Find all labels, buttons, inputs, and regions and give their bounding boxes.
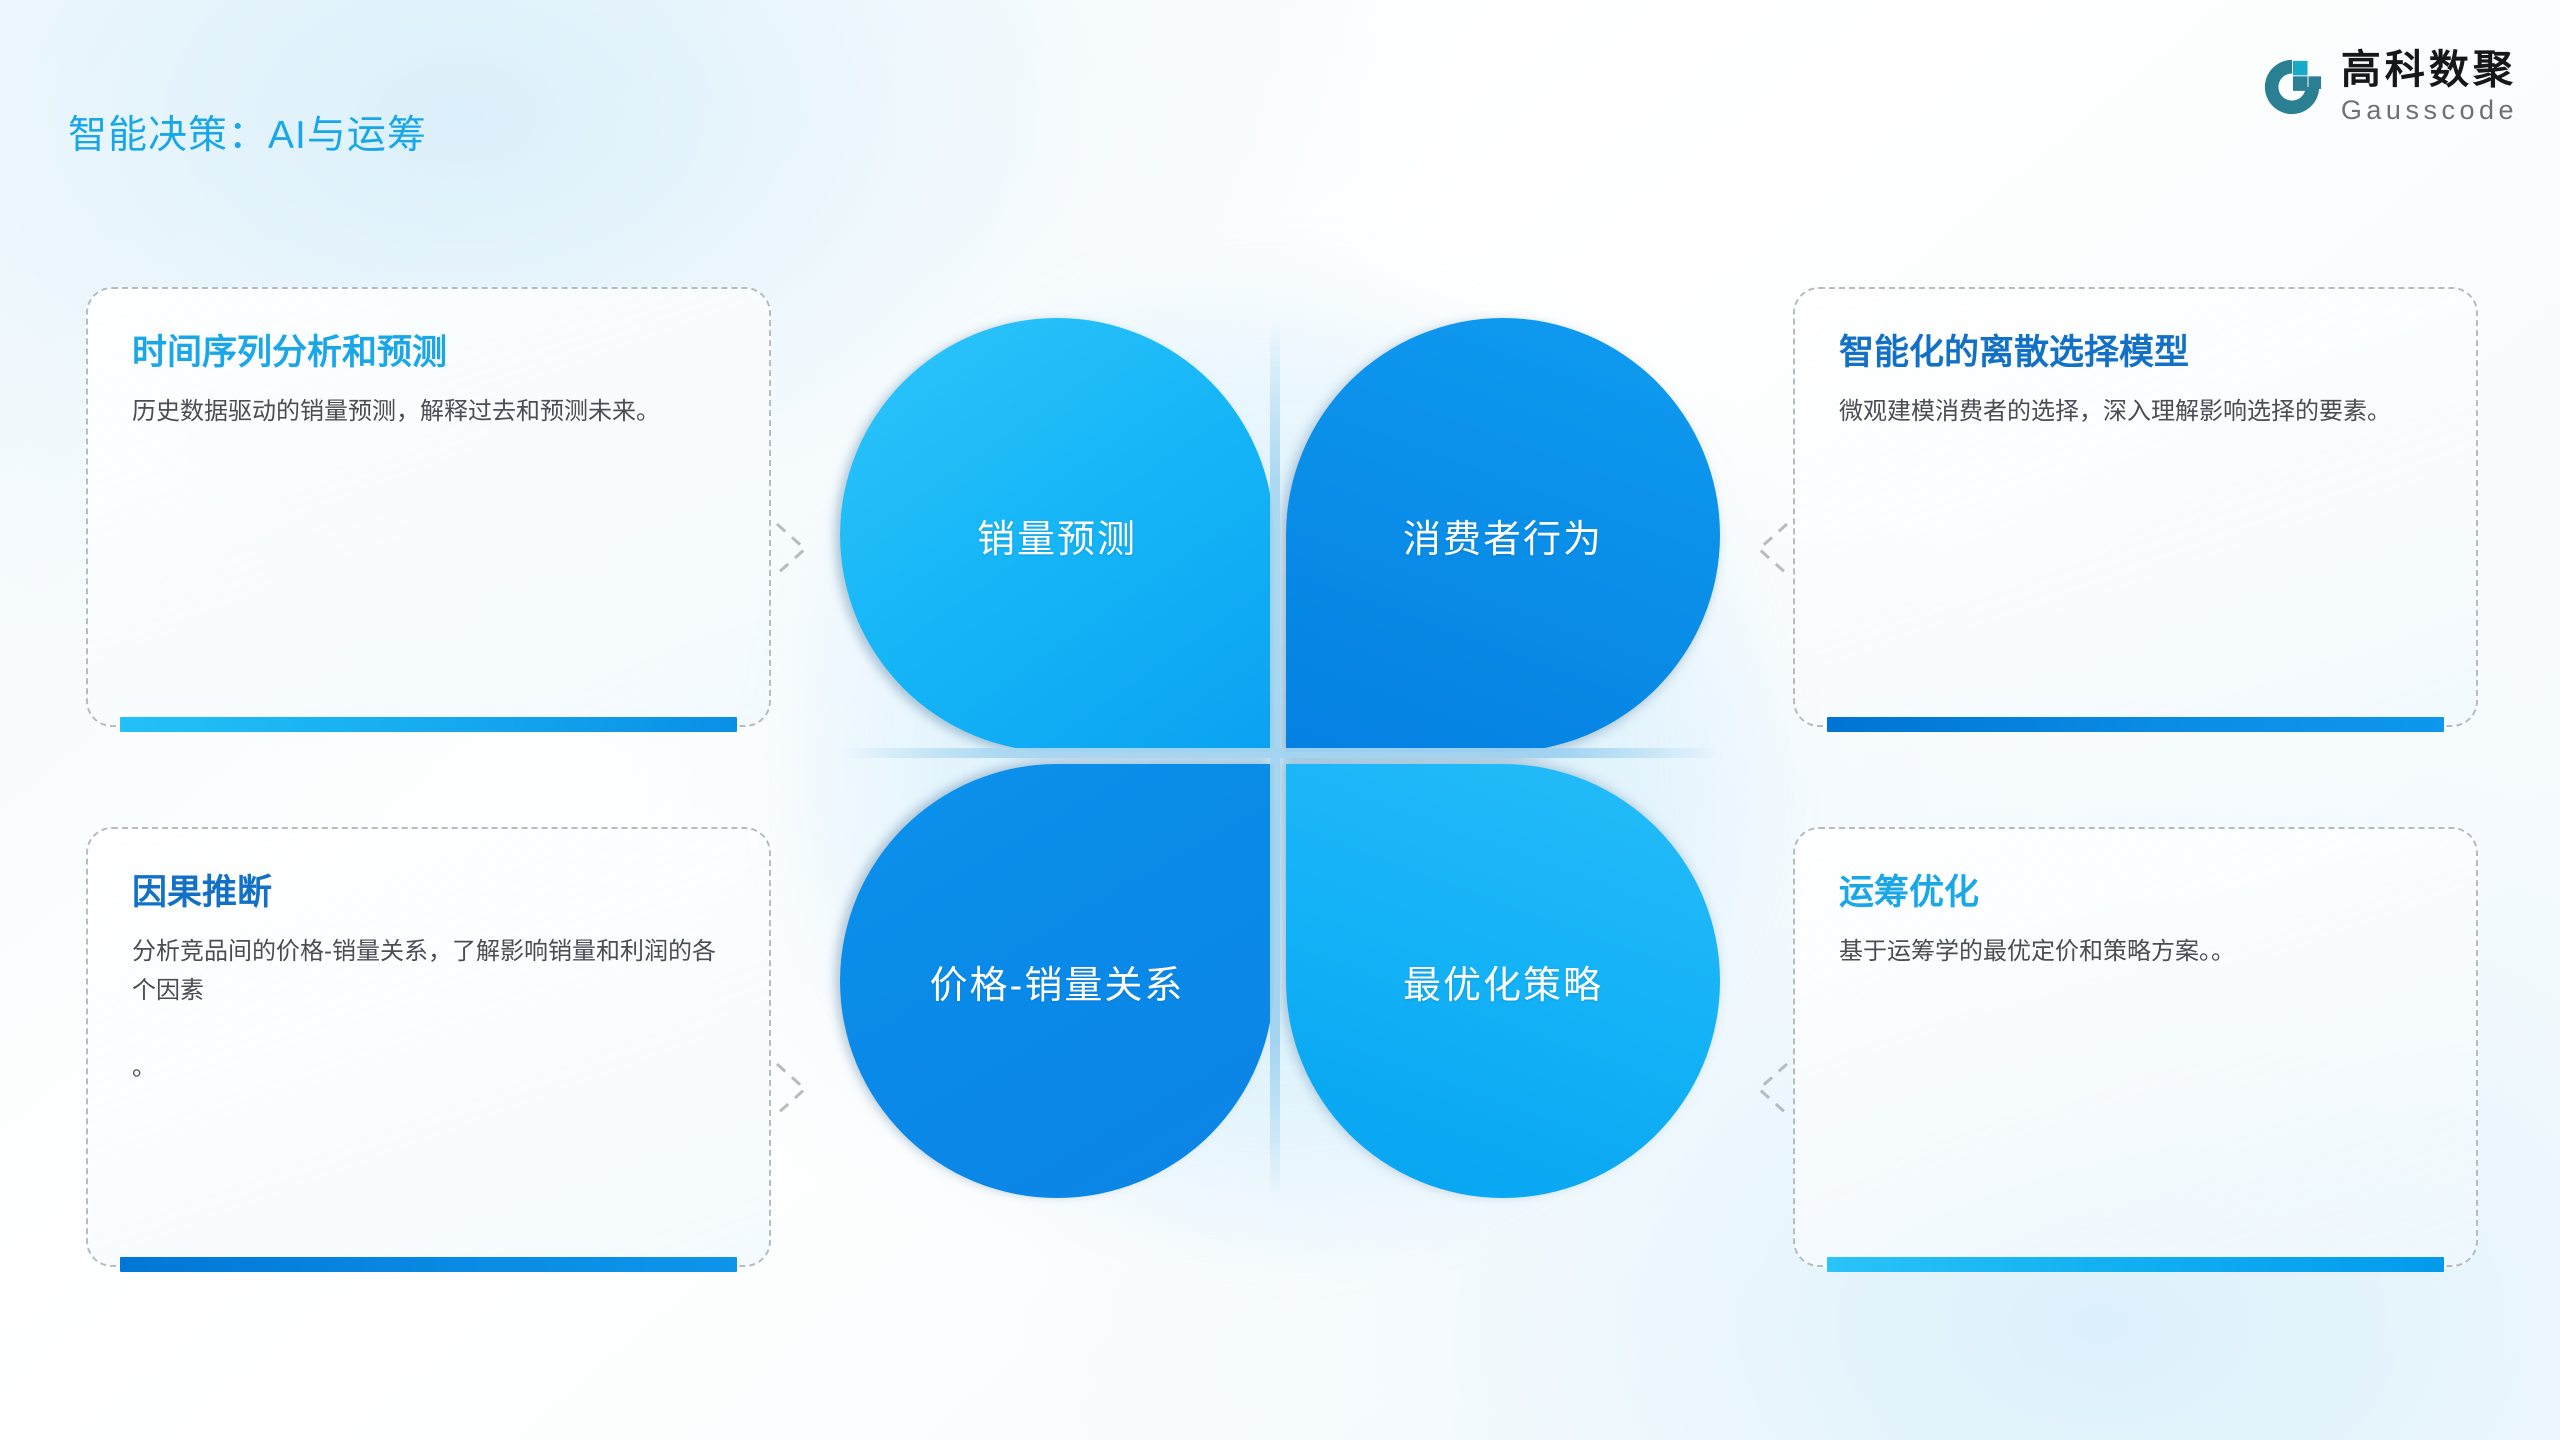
petal-label: 销量预测 (977, 508, 1137, 563)
petal-gap-vertical (1270, 318, 1280, 1198)
petal-label: 最优化策略 (1403, 954, 1603, 1009)
card-title: 运筹优化 (1839, 871, 2440, 915)
petal-optimal-strategy[interactable]: 最优化策略 (1286, 764, 1720, 1198)
feature-card-time-series[interactable]: 时间序列分析和预测 历史数据驱动的销量预测，解释过去和预测未来。 (86, 287, 771, 727)
petal-label: 消费者行为 (1403, 508, 1603, 563)
petal-consumer-behavior[interactable]: 消费者行为 (1286, 318, 1720, 752)
feature-card-discrete-choice[interactable]: 智能化的离散选择模型 微观建模消费者的选择，深入理解影响选择的要素。 (1793, 287, 2478, 727)
chevron-right-icon (771, 1056, 817, 1122)
card-body: 历史数据驱动的销量预测，解释过去和预测未来。 (132, 393, 733, 432)
four-petal-diagram: 销量预测 消费者行为 价格-销量关系 最优化策略 (840, 318, 1720, 1198)
petal-sales-forecast[interactable]: 销量预测 (840, 318, 1274, 752)
gausscode-g-mark-icon (2261, 56, 2323, 118)
logo-en-name: Gausscode (2341, 97, 2518, 124)
page-title: 智能决策：AI与运筹 (68, 104, 427, 160)
chevron-left-icon (1747, 1056, 1793, 1122)
card-body: 基于运筹学的最优定价和策略方案。。 (1839, 933, 2440, 972)
slide-canvas: 智能决策：AI与运筹 高科数聚 Gausscode 时间序列分析和预测 历史数据… (0, 0, 2560, 1440)
petal-price-volume-relation[interactable]: 价格-销量关系 (840, 764, 1274, 1198)
card-accent-bar (1827, 717, 2444, 732)
chevron-right-icon (771, 516, 817, 582)
feature-card-operations-research[interactable]: 运筹优化 基于运筹学的最优定价和策略方案。。 (1793, 827, 2478, 1267)
petal-gap-horizontal (840, 748, 1720, 758)
card-title: 时间序列分析和预测 (132, 331, 733, 375)
card-title: 因果推断 (132, 871, 733, 915)
petal-label: 价格-销量关系 (930, 954, 1185, 1009)
card-title: 智能化的离散选择模型 (1839, 331, 2440, 375)
card-body: 分析竞品间的价格-销量关系，了解影响销量和利润的各个因素 。 (132, 933, 733, 1089)
card-accent-bar (120, 1257, 737, 1272)
card-body: 微观建模消费者的选择，深入理解影响选择的要素。 (1839, 393, 2440, 432)
chevron-left-icon (1747, 516, 1793, 582)
logo-cn-name: 高科数聚 (2341, 50, 2518, 90)
feature-card-causal-inference[interactable]: 因果推断 分析竞品间的价格-销量关系，了解影响销量和利润的各个因素 。 (86, 827, 771, 1267)
brand-logo: 高科数聚 Gausscode (2261, 50, 2518, 124)
card-accent-bar (120, 717, 737, 732)
card-accent-bar (1827, 1257, 2444, 1272)
